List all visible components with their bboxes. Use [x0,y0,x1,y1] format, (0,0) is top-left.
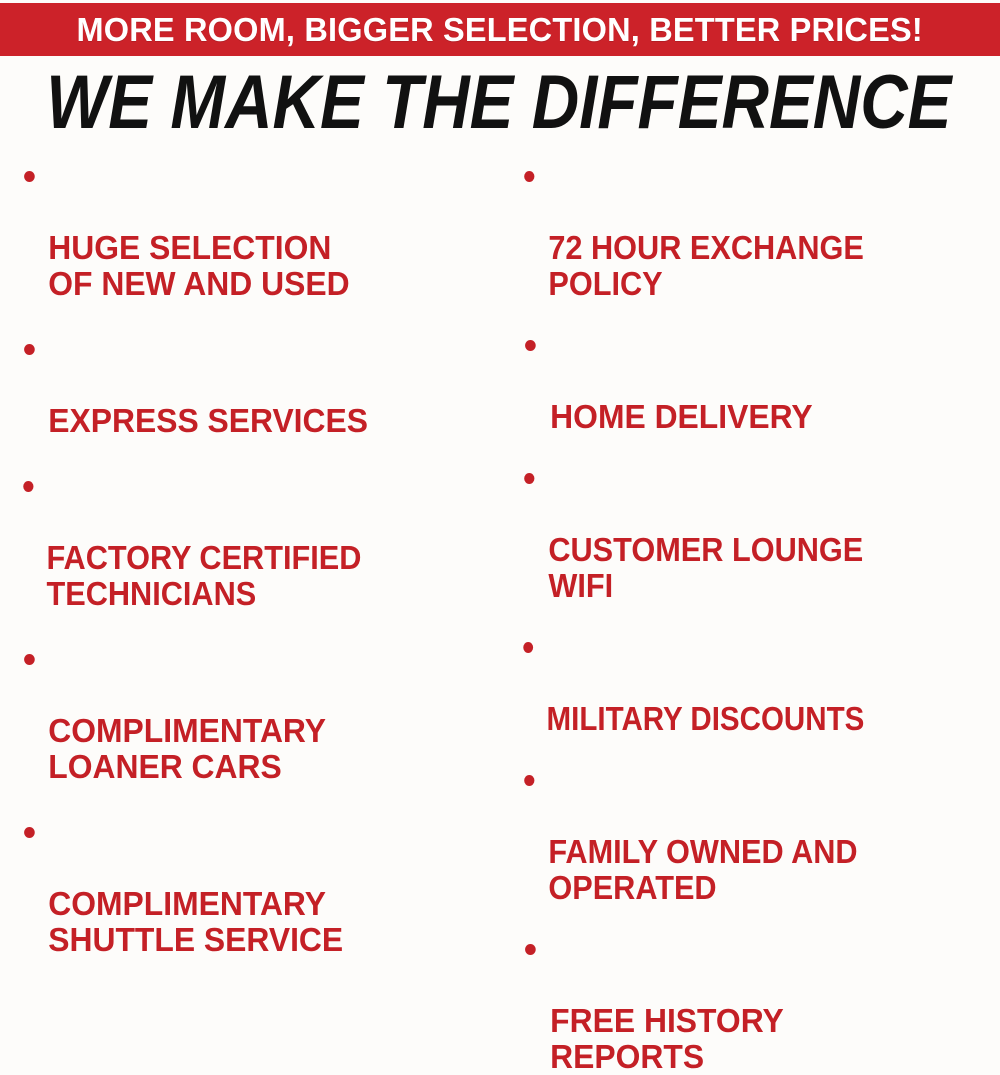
list-item-label: FACTORY CERTIFIED TECHNICIANS [47,539,362,612]
list-item: COMPLIMENTARY SHUTTLE SERVICE [0,814,483,958]
list-item: COMPLIMENTARY LOANER CARS [0,641,483,785]
features-columns: HUGE SELECTION OF NEW AND USED EXPRESS S… [0,158,1000,694]
headline-area: WE MAKE THE DIFFERENCE [0,66,1000,138]
bullet-dot-icon [24,171,35,182]
list-item: CUSTOMER LOUNGE WIFI [500,460,965,604]
list-item: 72 HOUR EXCHANGE POLICY [500,158,965,302]
bullet-dot-icon [525,340,536,351]
features-column-right: 72 HOUR EXCHANGE POLICY HOME DELIVERY CU… [500,158,1000,694]
bullet-dot-icon [523,642,533,653]
list-item-label: 72 HOUR EXCHANGE POLICY [548,229,863,302]
bullet-dot-icon [525,944,536,955]
list-item: HOME DELIVERY [500,327,983,435]
list-item: FREE HISTORY REPORTS [500,931,983,1075]
list-item-label: COMPLIMENTARY LOANER CARS [48,712,326,785]
list-item-label: HUGE SELECTION OF NEW AND USED [48,229,349,302]
list-item: FACTORY CERTIFIED TECHNICIANS [0,468,465,612]
bullet-dot-icon [24,344,35,355]
bullet-dot-icon [524,775,534,786]
bullet-dot-icon [24,654,35,665]
bullet-dot-icon [524,473,534,484]
features-column-left: HUGE SELECTION OF NEW AND USED EXPRESS S… [0,158,500,694]
list-item-label: FREE HISTORY REPORTS [550,1002,784,1075]
list-item-label: HOME DELIVERY [550,398,812,435]
list-item: FAMILY OWNED AND OPERATED [500,762,965,906]
list-item-label: FAMILY OWNED AND OPERATED [548,833,857,906]
list-item: HUGE SELECTION OF NEW AND USED [0,158,483,302]
list-item-label: COMPLIMENTARY SHUTTLE SERVICE [48,885,343,958]
list-item: EXPRESS SERVICES [0,331,483,439]
list-item-label: EXPRESS SERVICES [48,402,368,439]
page-title: WE MAKE THE DIFFERENCE [46,64,951,140]
bullet-dot-icon [524,171,534,182]
list-item: MILITARY DISCOUNTS [500,629,948,737]
list-item-label: CUSTOMER LOUNGE WIFI [548,531,863,604]
top-promo-banner: MORE ROOM, BIGGER SELECTION, BETTER PRIC… [0,3,1000,56]
bullet-dot-icon [23,481,33,492]
bullet-dot-icon [24,827,35,838]
advertisement-banner: MORE ROOM, BIGGER SELECTION, BETTER PRIC… [0,0,1000,694]
list-item-label: MILITARY DISCOUNTS [547,700,865,737]
top-promo-banner-text: MORE ROOM, BIGGER SELECTION, BETTER PRIC… [77,13,923,46]
